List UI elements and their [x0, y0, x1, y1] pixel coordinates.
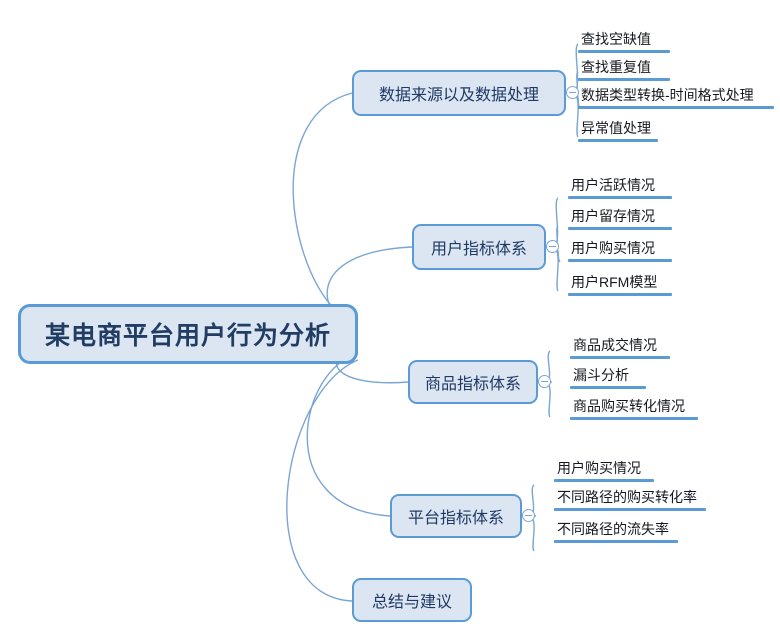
leaf-item-b1-c2[interactable]: 查找重复值 — [578, 58, 670, 81]
leaf-item-b3-c3-label: 商品购买转化情况 — [570, 397, 698, 417]
leaf-item-b4-c2[interactable]: 不同路径的购买转化率 — [554, 488, 706, 511]
connector-root-branch-1 — [293, 93, 358, 322]
leaf-underline — [570, 386, 646, 389]
branch-node-3[interactable]: 商品指标体系 — [408, 360, 538, 404]
leaf-underline — [554, 540, 678, 543]
leaf-item-b2-c4[interactable]: 用户RFM模型 — [568, 273, 672, 296]
leaf-underline — [570, 356, 670, 359]
collapse-toggle-branch-3[interactable] — [538, 375, 551, 388]
leaf-item-b2-c3[interactable]: 用户购买情况 — [568, 239, 672, 262]
leaf-underline — [578, 50, 670, 53]
leaf-item-b4-c1[interactable]: 用户购买情况 — [554, 459, 654, 482]
leaf-item-b1-c1[interactable]: 查找空缺值 — [578, 30, 670, 53]
branch-node-1[interactable]: 数据来源以及数据处理 — [352, 70, 566, 116]
branch-node-4-label: 平台指标体系 — [408, 504, 504, 528]
root-node[interactable]: 某电商平台用户行为分析 — [18, 304, 358, 364]
branch-node-2-label: 用户指标体系 — [431, 235, 527, 259]
connector-b2-c4 — [552, 247, 558, 291]
branch-node-4[interactable]: 平台指标体系 — [390, 494, 522, 538]
root-node-label: 某电商平台用户行为分析 — [45, 316, 331, 352]
leaf-underline — [578, 139, 658, 142]
leaf-underline — [578, 106, 774, 109]
leaf-item-b2-c2-label: 用户留存情况 — [568, 207, 672, 227]
leaf-item-b3-c3[interactable]: 商品购买转化情况 — [570, 397, 698, 420]
leaf-underline — [568, 293, 672, 296]
leaf-item-b2-c1[interactable]: 用户活跃情况 — [568, 176, 672, 199]
branch-node-1-label: 数据来源以及数据处理 — [379, 81, 539, 105]
leaf-item-b2-c4-label: 用户RFM模型 — [568, 273, 672, 293]
branch-node-5-label: 总结与建议 — [372, 588, 452, 612]
collapse-toggle-branch-1[interactable] — [566, 86, 579, 99]
leaf-item-b3-c2-label: 漏斗分析 — [570, 366, 646, 386]
connector-root-branch-5 — [287, 360, 358, 601]
mindmap-canvas: 某电商平台用户行为分析 数据来源以及数据处理 查找空缺值 查找重复值 数据类型转… — [0, 0, 780, 638]
leaf-item-b3-c1-label: 商品成交情况 — [570, 336, 670, 356]
leaf-item-b4-c3[interactable]: 不同路径的流失率 — [554, 520, 678, 543]
branch-node-2[interactable]: 用户指标体系 — [412, 224, 546, 270]
leaf-item-b3-c1[interactable]: 商品成交情况 — [570, 336, 670, 359]
leaf-underline — [568, 227, 672, 230]
leaf-item-b4-c1-label: 用户购买情况 — [554, 459, 654, 479]
branch-node-3-label: 商品指标体系 — [425, 370, 521, 394]
leaf-underline — [554, 508, 706, 511]
leaf-underline — [568, 196, 672, 199]
leaf-item-b1-c4-label: 异常值处理 — [578, 119, 658, 139]
leaf-underline — [578, 78, 670, 81]
collapse-toggle-branch-4[interactable] — [522, 509, 535, 522]
leaf-item-b2-c2[interactable]: 用户留存情况 — [568, 207, 672, 230]
branch-node-5[interactable]: 总结与建议 — [352, 578, 472, 622]
collapse-toggle-branch-2[interactable] — [546, 240, 559, 253]
leaf-item-b1-c3[interactable]: 数据类型转换-时间格式处理 — [578, 86, 774, 109]
leaf-item-b2-c3-label: 用户购买情况 — [568, 239, 672, 259]
leaf-item-b1-c4[interactable]: 异常值处理 — [578, 119, 658, 142]
leaf-item-b2-c1-label: 用户活跃情况 — [568, 176, 672, 196]
leaf-item-b4-c3-label: 不同路径的流失率 — [554, 520, 678, 540]
leaf-item-b3-c2[interactable]: 漏斗分析 — [570, 366, 646, 389]
leaf-underline — [568, 259, 672, 262]
connector-root-branch-4 — [307, 354, 390, 516]
leaf-item-b1-c3-label: 数据类型转换-时间格式处理 — [578, 86, 774, 106]
leaf-underline — [570, 417, 698, 420]
leaf-underline — [554, 479, 654, 482]
leaf-item-b4-c2-label: 不同路径的购买转化率 — [554, 488, 706, 508]
leaf-item-b1-c2-label: 查找重复值 — [578, 58, 670, 78]
leaf-item-b1-c1-label: 查找空缺值 — [578, 30, 670, 50]
